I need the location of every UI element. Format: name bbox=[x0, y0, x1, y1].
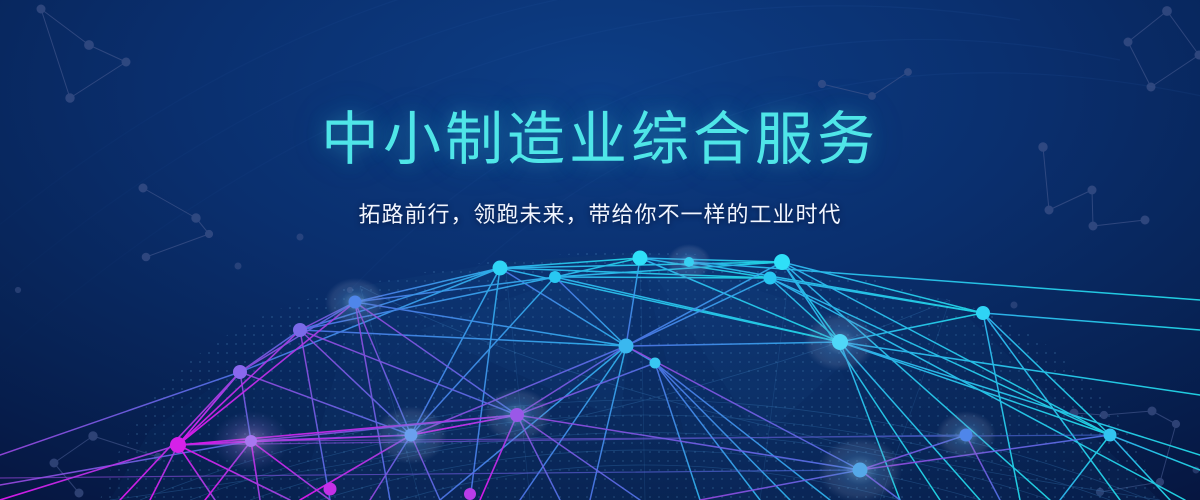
hero-banner: 中小制造业综合服务 拓路前行，领跑未来，带给你不一样的工业时代 bbox=[0, 0, 1200, 500]
page-subtitle: 拓路前行，领跑未来，带给你不一样的工业时代 bbox=[0, 197, 1200, 229]
page-title: 中小制造业综合服务 bbox=[0, 108, 1200, 171]
dome-interior bbox=[0, 0, 1200, 500]
dome-network-graphic bbox=[0, 0, 1200, 500]
